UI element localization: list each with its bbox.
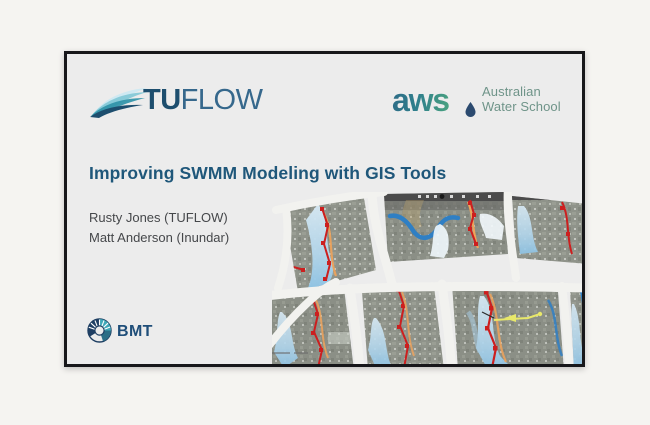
presentation-slide-frame: TUFLOW aws Australian Water School Impro… bbox=[64, 51, 585, 367]
map-panel-lower-right bbox=[448, 280, 568, 364]
aws-wordmark: aws bbox=[392, 82, 449, 118]
map-scalebar bbox=[272, 352, 308, 354]
author-list: Rusty Jones (TUFLOW) Matt Anderson (Inun… bbox=[89, 208, 229, 247]
tuflow-word-light: FLOW bbox=[181, 84, 263, 116]
tuflow-word-bold: TU bbox=[143, 84, 181, 116]
bmt-wordmark: BMT bbox=[117, 323, 153, 341]
water-droplet-icon bbox=[465, 102, 476, 117]
tuflow-wordmark: TUFLOW bbox=[143, 84, 262, 116]
slide-canvas: TUFLOW aws Australian Water School Impro… bbox=[67, 54, 582, 364]
bmt-logo: BMT bbox=[87, 316, 173, 346]
aws-subtitle-line2: Water School bbox=[482, 99, 561, 114]
page-title: Improving SWMM Modeling with GIS Tools bbox=[89, 163, 446, 184]
bmt-globe-icon bbox=[87, 318, 112, 343]
map-panel-top-right bbox=[508, 192, 582, 268]
flood-model-map-collage bbox=[272, 192, 582, 364]
map-panel-top-river bbox=[380, 192, 512, 264]
tuflow-wave-icon bbox=[89, 86, 151, 118]
aws-subtitle-line1: Australian bbox=[482, 84, 561, 99]
author-line: Rusty Jones (TUFLOW) bbox=[89, 208, 229, 228]
tuflow-logo: TUFLOW bbox=[89, 82, 289, 122]
aws-logo: aws Australian Water School bbox=[392, 80, 577, 124]
aws-subtitle: Australian Water School bbox=[482, 84, 561, 114]
author-line: Matt Anderson (Inundar) bbox=[89, 228, 229, 248]
